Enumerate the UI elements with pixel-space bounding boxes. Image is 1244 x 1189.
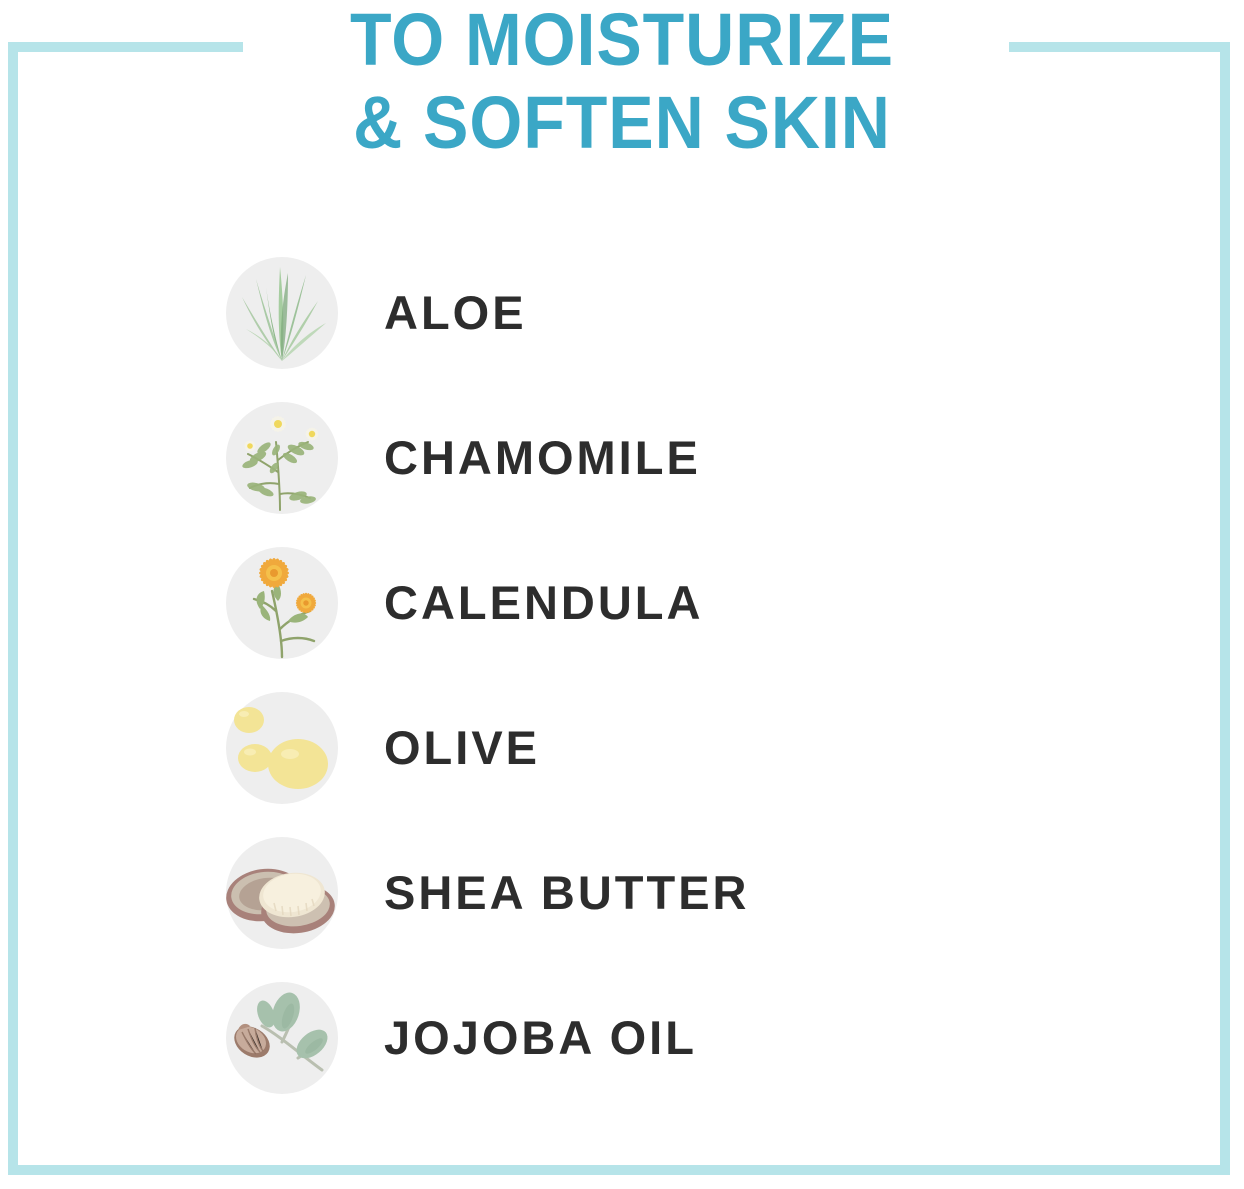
- jojoba-branch-icon: [226, 982, 338, 1094]
- shea-nut-icon: [226, 837, 338, 949]
- aloe-plant-icon: [226, 257, 338, 369]
- page-title: TO MOISTURIZE & SOFTEN SKIN: [0, 0, 1244, 164]
- page-title-line-2: & SOFTEN SKIN: [50, 81, 1194, 164]
- calendula-row: CALENDULA: [226, 530, 1126, 675]
- shea-butter-row: SHEA BUTTER: [226, 820, 1126, 965]
- ingredient-label: CALENDULA: [384, 579, 703, 626]
- page-title-line-1: TO MOISTURIZE: [50, 0, 1194, 81]
- jojoba-oil-row: JOJOBA OIL: [226, 965, 1126, 1110]
- ingredient-label: JOJOBA OIL: [384, 1014, 697, 1061]
- ingredient-label: CHAMOMILE: [384, 434, 701, 481]
- chamomile-flower-icon: [226, 402, 338, 514]
- list-item: CHAMOMILE: [226, 385, 1126, 530]
- ingredient-label: OLIVE: [384, 724, 540, 771]
- list-item: ALOE: [226, 240, 1126, 385]
- ingredient-label: SHEA BUTTER: [384, 869, 750, 916]
- calendula-flower-icon: [226, 547, 338, 659]
- ingredient-label: ALOE: [384, 289, 527, 336]
- olive-oil-droplets-icon: [226, 692, 338, 804]
- ingredient-list: ALOE: [226, 240, 1126, 1110]
- olive-row: OLIVE: [226, 675, 1126, 820]
